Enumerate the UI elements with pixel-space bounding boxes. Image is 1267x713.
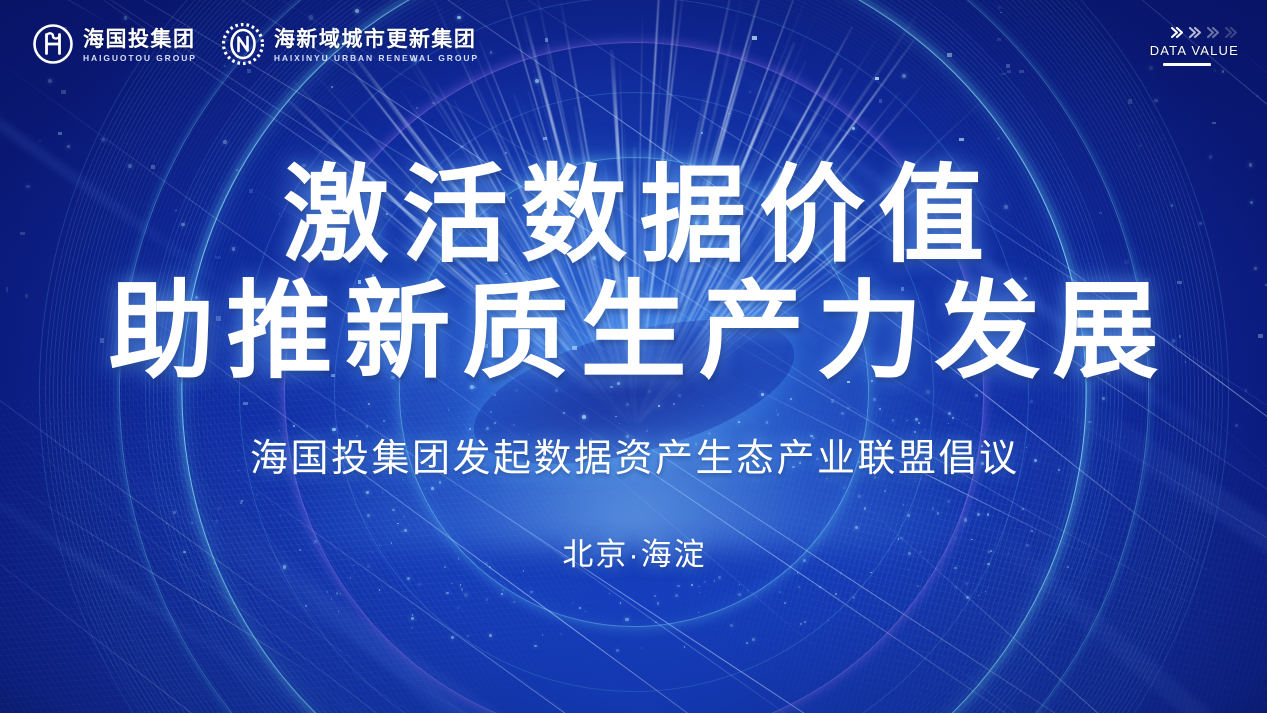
logo-haiguotou-name-en: HAIGUOTOU GROUP [83, 54, 197, 63]
circle-n-monogram-icon [221, 22, 265, 71]
logo-haiguotou-text: 海国投集团 HAIGUOTOU GROUP [83, 29, 197, 63]
logo-haixinyu-text: 海新域城市更新集团 HAIXINYU URBAN RENEWAL GROUP [274, 29, 479, 63]
title-line-1: 激活数据价值 [0, 163, 1267, 269]
location-label: 北京·海淀 [0, 529, 1267, 574]
data-value-badge: DATA VALUE [1150, 24, 1239, 66]
logo-haixinyu[interactable]: 海新域城市更新集团 HAIXINYU URBAN RENEWAL GROUP [221, 22, 479, 71]
logo-haiguotou-name-cn: 海国投集团 [83, 29, 197, 50]
subtitle: 海国投集团发起数据资产生态产业联盟倡议 [0, 427, 1267, 482]
logo-haixinyu-name-en: HAIXINYU URBAN RENEWAL GROUP [274, 54, 479, 63]
data-value-underline [1163, 63, 1211, 66]
logo-haiguotou[interactable]: 海国投集团 HAIGUOTOU GROUP [32, 23, 197, 70]
title-line-2: 助推新质生产力发展 [0, 279, 1267, 385]
header-bar: 海国投集团 HAIGUOTOU GROUP 海新域城市更新集团 HAIXINYU… [0, 0, 1267, 92]
double-chevron-right-icon [1150, 24, 1239, 40]
circle-h-monogram-icon [32, 23, 74, 70]
logo-group: 海国投集团 HAIGUOTOU GROUP 海新域城市更新集团 HAIXINYU… [0, 22, 479, 71]
data-value-label: DATA VALUE [1150, 43, 1239, 58]
logo-haixinyu-name-cn: 海新域城市更新集团 [274, 29, 479, 50]
poster-canvas: 海国投集团 HAIGUOTOU GROUP 海新域城市更新集团 HAIXINYU… [0, 0, 1267, 713]
title-block: 激活数据价值 助推新质生产力发展 [0, 163, 1267, 385]
